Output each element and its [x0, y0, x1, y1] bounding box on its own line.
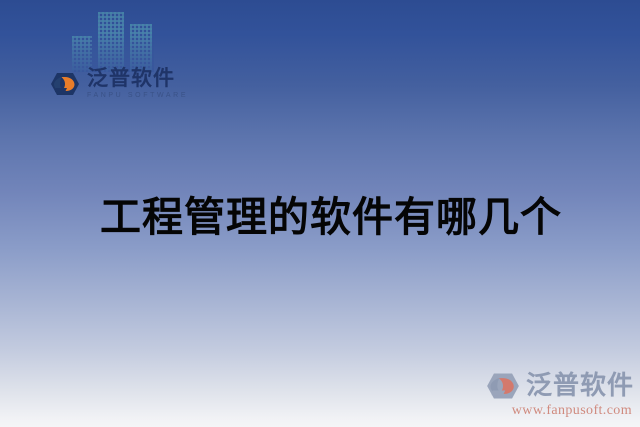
watermark-url: www.fanpusoft.com	[512, 403, 632, 419]
header-brand-name-cn: 泛普软件	[87, 68, 188, 89]
header-brand-wordmark: 泛普软件 FANPU SOFTWARE	[87, 68, 188, 99]
watermark-name-cn: 泛普软件	[526, 373, 634, 399]
fanpu-watermark-logo-icon	[486, 371, 520, 401]
watermark-row: 泛普软件	[486, 371, 634, 401]
fanpu-logo-icon	[50, 71, 80, 97]
header-brand-logo: 泛普软件 FANPU SOFTWARE	[50, 68, 188, 99]
watermark-logo: 泛普软件 www.fanpusoft.com	[486, 371, 634, 419]
slide-canvas: 泛普软件 FANPU SOFTWARE 工程管理的软件有哪几个 泛普软件 www…	[0, 0, 640, 427]
header-brand-name-en: FANPU SOFTWARE	[87, 92, 188, 99]
city-skyline-icon	[72, 6, 154, 72]
page-title: 工程管理的软件有哪几个	[100, 183, 562, 243]
skyline-fade-overlay	[72, 6, 154, 72]
